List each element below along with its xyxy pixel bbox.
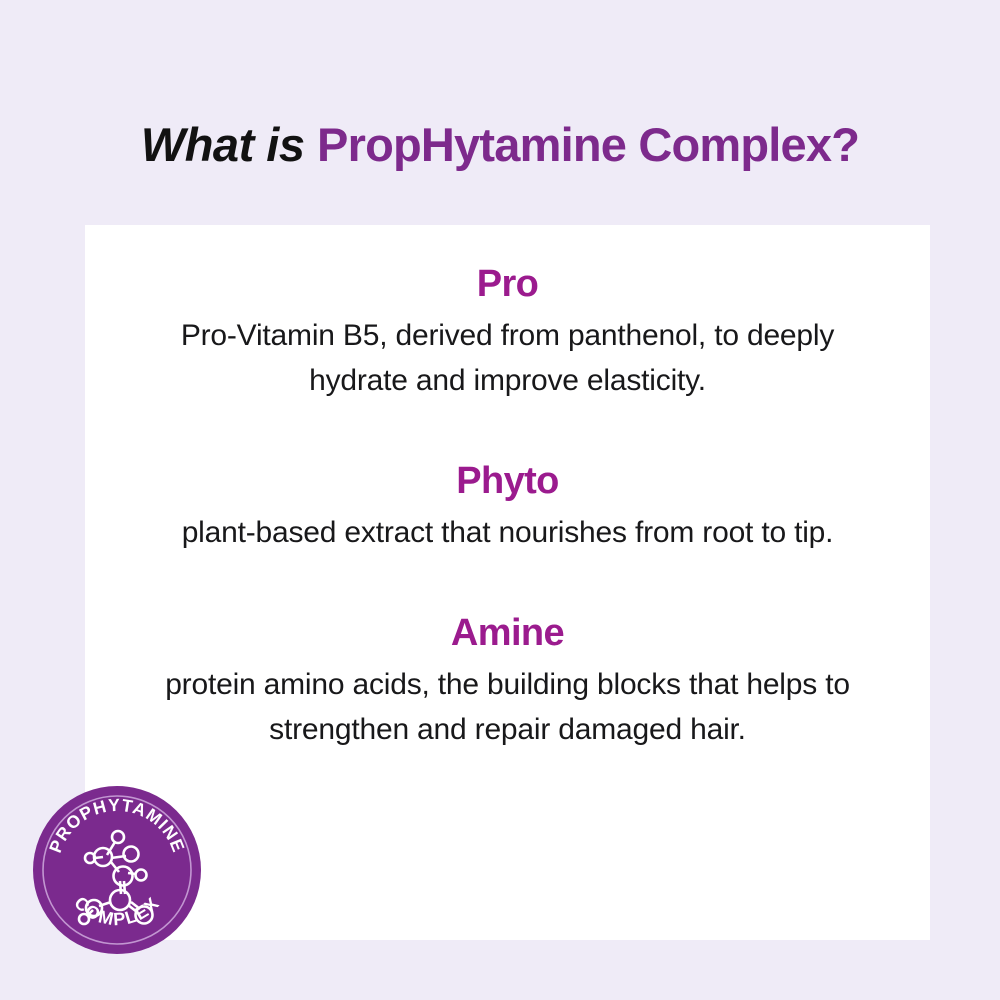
section-body: protein amino acids, the building blocks… <box>143 662 873 752</box>
prophytamine-complex-badge: PROPHYTAMINE COMPLEX <box>31 784 203 956</box>
page-title: What is PropHytamine Complex? <box>0 116 1000 174</box>
section-heading: Phyto <box>85 458 930 504</box>
section-phyto: Phyto plant-based extract that nourishes… <box>85 458 930 555</box>
section-pro: Pro Pro-Vitamin B5, derived from panthen… <box>85 261 930 403</box>
page-title-lead: What is <box>141 118 317 171</box>
page-title-accent: PropHytamine Complex? <box>317 118 859 171</box>
section-heading: Amine <box>85 610 930 656</box>
section-body: plant-based extract that nourishes from … <box>143 510 873 555</box>
content-card: Pro Pro-Vitamin B5, derived from panthen… <box>85 225 930 940</box>
page-root: What is PropHytamine Complex? Pro Pro-Vi… <box>0 0 1000 1000</box>
section-heading: Pro <box>85 261 930 307</box>
section-amine: Amine protein amino acids, the building … <box>85 610 930 752</box>
section-body: Pro-Vitamin B5, derived from panthenol, … <box>143 313 873 403</box>
section-list: Pro Pro-Vitamin B5, derived from panthen… <box>85 225 930 752</box>
